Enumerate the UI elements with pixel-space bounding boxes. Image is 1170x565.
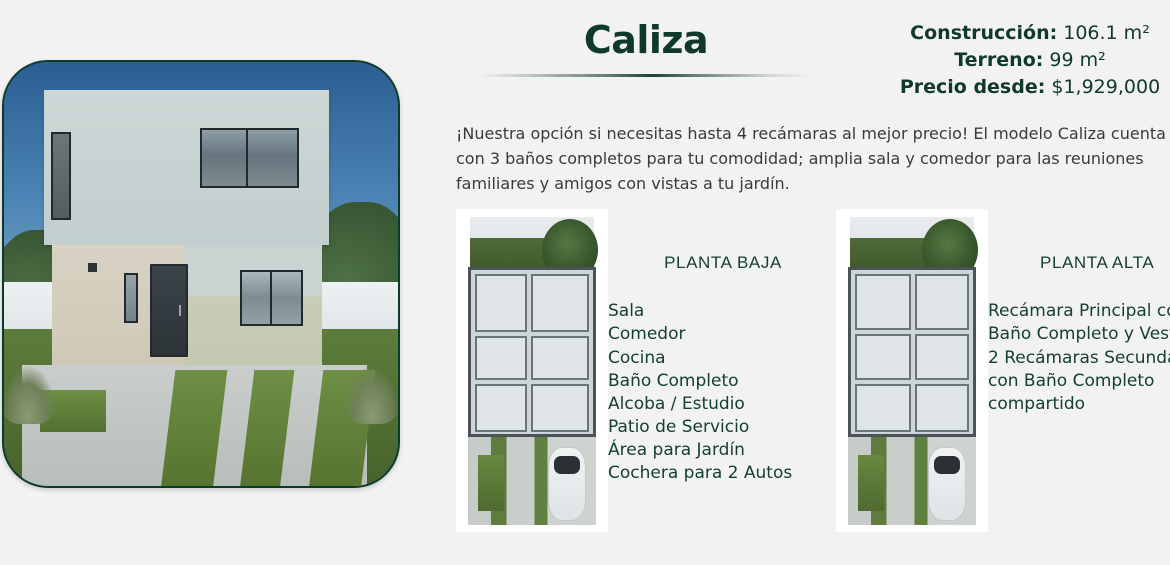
plan-room-recamara-secundaria-2	[915, 384, 969, 432]
window-lower-large	[240, 270, 303, 326]
property-specs: Construcción: 106.1 m² Terreno: 99 m² Pr…	[890, 20, 1170, 101]
floor-plan-art-upper	[836, 209, 988, 532]
plan-floor-body	[468, 267, 596, 437]
plan-floor-body	[848, 267, 976, 437]
floor-plan-image-planta-baja[interactable]	[456, 209, 608, 532]
ornamental-grass-left	[2, 366, 56, 424]
plan-car-icon	[548, 447, 586, 521]
spec-construccion-label: Construcción:	[910, 22, 1057, 44]
floor-plan-heading-planta-alta: PLANTA ALTA	[988, 251, 1170, 274]
spec-precio: Precio desde: $1,929,000	[890, 74, 1170, 101]
front-door	[150, 264, 188, 357]
spec-terreno-value: 99 m²	[1049, 49, 1105, 71]
plan-room-escaleras	[475, 336, 527, 380]
page-title: Caliza	[456, 18, 836, 62]
porch-lamp-icon	[88, 263, 97, 272]
plan-room-recamara-principal	[855, 274, 911, 330]
floor-plan-art-ground	[456, 209, 608, 532]
window-upper-large	[200, 128, 299, 188]
floor-plan-heading-planta-baja: PLANTA BAJA	[608, 251, 838, 274]
plan-front-lawn	[858, 455, 884, 511]
floor-plan-text-planta-baja: PLANTA BAJA Sala Comedor Cocina Baño Com…	[608, 228, 838, 508]
plan-room-bano-compartido	[915, 334, 969, 380]
house-exterior-image[interactable]	[2, 60, 400, 488]
floor-plan-list-planta-baja: Sala Comedor Cocina Baño Completo Alcoba…	[608, 300, 838, 485]
floor-plan-image-planta-alta[interactable]	[836, 209, 988, 532]
property-listing-page: Caliza Construcción: 106.1 m² Terreno: 9…	[0, 0, 1170, 565]
floor-plan-list-planta-alta: Recámara Principal con Baño Completo y V…	[988, 300, 1170, 416]
title-divider	[478, 74, 812, 77]
plan-room-alcoba	[531, 384, 589, 432]
plan-room-escaleras	[855, 334, 911, 380]
window-lower-narrow	[124, 273, 138, 323]
house-render-art	[4, 62, 398, 486]
spec-terreno: Terreno: 99 m²	[890, 47, 1170, 74]
ornamental-grass-right	[344, 366, 400, 424]
plan-room-vestidor	[855, 384, 911, 432]
spec-construccion-value: 106.1 m²	[1063, 22, 1150, 44]
spec-precio-value: $1,929,000	[1051, 76, 1160, 98]
property-description: ¡Nuestra opción si necesitas hasta 4 rec…	[456, 122, 1170, 196]
spec-construccion: Construcción: 106.1 m²	[890, 20, 1170, 47]
plan-front-lawn	[478, 455, 504, 511]
plan-rear-yard	[470, 217, 594, 269]
window-upper-narrow	[51, 132, 71, 220]
plan-rear-yard	[850, 217, 974, 269]
plan-room-bano	[475, 384, 527, 432]
plan-room-sala	[531, 336, 589, 380]
plan-car-icon	[928, 447, 966, 521]
plan-room-cocina	[475, 274, 527, 332]
plan-room-recamara-secundaria-1	[915, 274, 969, 330]
plan-room-comedor	[531, 274, 589, 332]
floor-plan-text-planta-alta: PLANTA ALTA Recámara Principal con Baño …	[988, 228, 1170, 439]
spec-terreno-label: Terreno:	[954, 49, 1043, 71]
spec-precio-label: Precio desde:	[900, 76, 1046, 98]
